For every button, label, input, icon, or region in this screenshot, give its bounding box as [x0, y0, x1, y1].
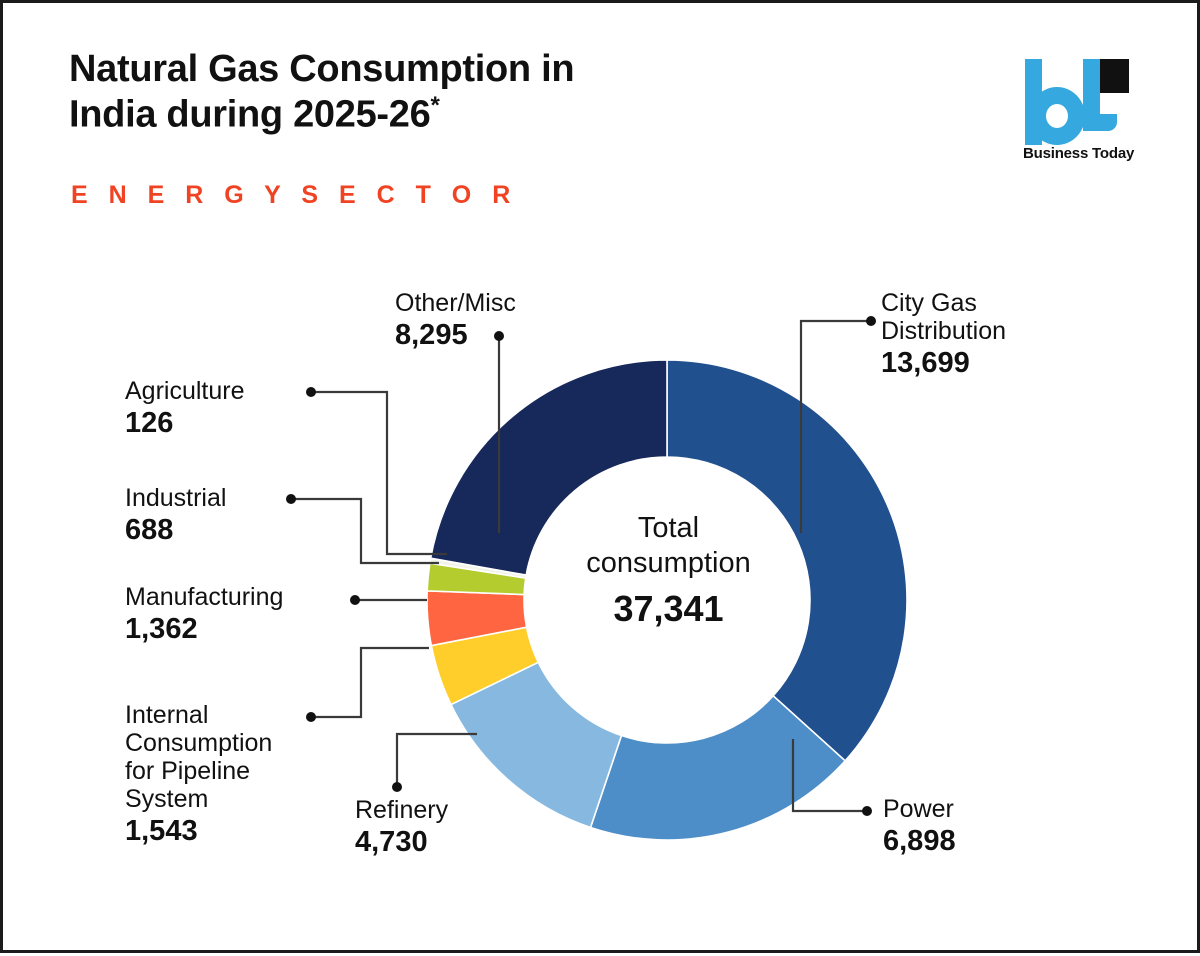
logo-t-foot: [1083, 114, 1117, 131]
slice-name-city-gas: City Gas Distribution: [881, 289, 1111, 345]
slice-label-power: Power 6,898: [883, 795, 1083, 857]
slice-value-internal-consumption: 1,543: [125, 815, 340, 847]
logo-caption: Business Today: [1023, 145, 1134, 162]
slice-value-power: 6,898: [883, 825, 1083, 857]
slice-name-agriculture: Agriculture: [125, 377, 355, 405]
logo-mark-bt-icon: [1021, 53, 1139, 145]
leader-line-refinery: [397, 734, 477, 785]
slice-label-city-gas: City Gas Distribution 13,699: [881, 289, 1111, 379]
slice-label-agriculture: Agriculture 126: [125, 377, 355, 439]
slice-label-industrial: Industrial 688: [125, 484, 355, 546]
total-consumption-value: 37,341: [526, 588, 811, 630]
slice-value-other: 8,295: [395, 319, 615, 351]
donut-slice-power[interactable]: [591, 696, 846, 840]
slice-name-other: Other/Misc: [395, 289, 615, 317]
slice-label-internal-consumption: Internal Consumption for Pipeline System…: [125, 701, 340, 847]
page-title: Natural Gas Consumption in India during …: [69, 47, 769, 137]
slice-value-city-gas: 13,699: [881, 347, 1111, 379]
donut-slice-internal-consumption-for-pipeline-system[interactable]: [431, 627, 538, 704]
donut-slice-manufacturing[interactable]: [427, 591, 527, 646]
donut-slice-industrial[interactable]: [427, 563, 526, 594]
slice-value-industrial: 688: [125, 514, 355, 546]
leader-line-power: [793, 739, 863, 811]
logo-b-bowl: [1029, 87, 1085, 145]
slice-value-agriculture: 126: [125, 407, 355, 439]
section-subtitle: E N E R G Y S E C T O R: [71, 181, 517, 210]
slice-label-manufacturing: Manufacturing 1,362: [125, 583, 375, 645]
slice-name-internal-consumption: Internal Consumption for Pipeline System: [125, 701, 340, 813]
logo-letter-t-icon: [1083, 59, 1135, 145]
slice-label-other: Other/Misc 8,295: [395, 289, 615, 351]
donut-slice-agriculture[interactable]: [430, 558, 526, 578]
slice-name-power: Power: [883, 795, 1083, 823]
slice-value-manufacturing: 1,362: [125, 613, 375, 645]
slice-name-refinery: Refinery: [355, 796, 555, 824]
slice-label-refinery: Refinery 4,730: [355, 796, 555, 858]
total-consumption-label: Total consumption: [526, 511, 811, 582]
donut-center-text: Total consumption 37,341: [526, 511, 811, 630]
business-today-logo: Business Today: [1021, 53, 1141, 168]
leader-line-city-gas: [801, 321, 867, 533]
leader-dot-refinery: [392, 782, 402, 792]
leader-dot-city-gas: [866, 316, 876, 326]
slice-value-refinery: 4,730: [355, 826, 555, 858]
title-asterisk: *: [430, 92, 439, 119]
infographic-canvas: Natural Gas Consumption in India during …: [0, 0, 1200, 953]
leader-dot-power: [862, 806, 872, 816]
slice-name-industrial: Industrial: [125, 484, 355, 512]
slice-name-manufacturing: Manufacturing: [125, 583, 375, 611]
logo-letter-b-icon: [1025, 59, 1085, 145]
page-title-text: Natural Gas Consumption in India during …: [69, 48, 574, 135]
